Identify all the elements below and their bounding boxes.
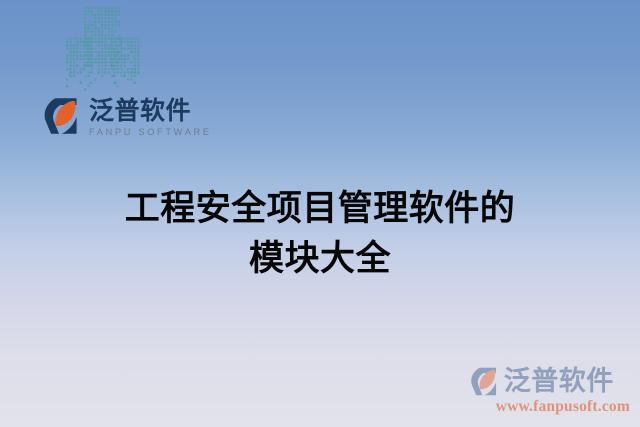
brand-logo-text: 泛普软件 FANPU SOFTWARE (89, 96, 212, 137)
banner-headline: 工程安全项目管理软件的 模块大全 (0, 184, 640, 284)
dot-matrix-skyline-decoration (66, 0, 194, 96)
brand-logo: 泛普软件 FANPU SOFTWARE (43, 96, 212, 137)
headline-line-1: 工程安全项目管理软件的 (0, 184, 640, 234)
watermark-logo-row: 泛普软件 (470, 366, 614, 397)
headline-line-2: 模块大全 (0, 234, 640, 284)
brand-name-en: FANPU SOFTWARE (89, 127, 212, 137)
watermark-url: www.fanpusoft.com (496, 398, 630, 416)
promo-banner: 泛普软件 FANPU SOFTWARE 工程安全项目管理软件的 模块大全 泛普软… (0, 0, 640, 427)
fanpu-logo-mark-icon (43, 96, 83, 136)
fanpu-watermark-mark-icon (470, 366, 501, 397)
brand-name-cn: 泛普软件 (89, 98, 212, 125)
brand-watermark: 泛普软件 www.fanpusoft.com (470, 366, 630, 416)
watermark-brand-name: 泛普软件 (504, 368, 614, 395)
